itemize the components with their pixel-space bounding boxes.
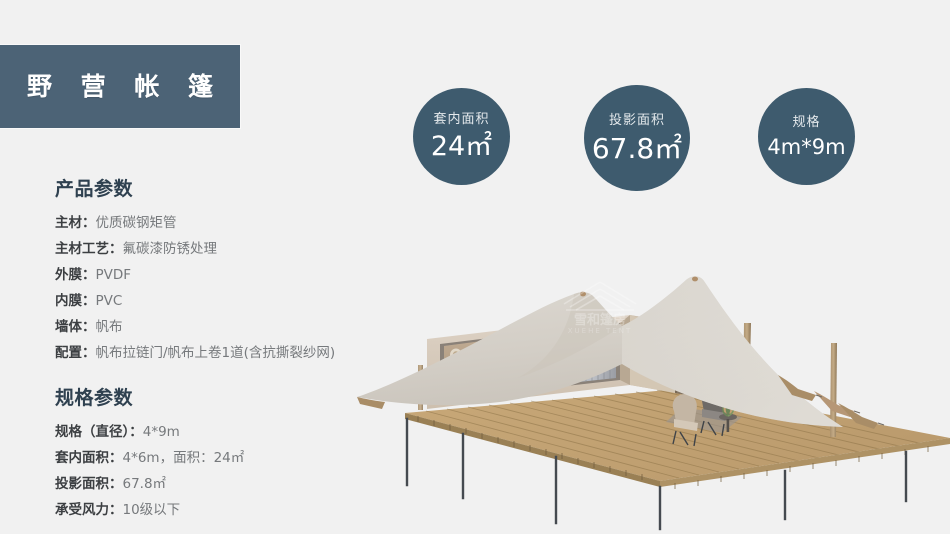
spec-value: 67.8㎡: [123, 476, 167, 492]
spec-label: 外膜：: [55, 267, 96, 283]
spec-value: 优质碳钢矩管: [96, 215, 177, 231]
product-parameters-heading: 产品参数: [55, 174, 335, 201]
spec-value: 帆布: [96, 319, 123, 335]
badge-inner-area: 套内面积 24㎡: [413, 88, 510, 185]
spec-value: 10级以下: [123, 502, 181, 518]
page-title-banner: 野 营 帐 篷: [0, 45, 240, 128]
spec-value: 氟碳漆防锈处理: [123, 241, 218, 257]
spec-row: 内膜：PVC: [55, 288, 335, 314]
badge-projected-area: 投影面积 67.8㎡: [584, 85, 690, 191]
badge-specification: 规格 4m*9m: [758, 88, 855, 185]
spec-row: 投影面积：67.8㎡: [55, 471, 244, 497]
spec-label: 主材工艺：: [55, 241, 123, 257]
badge-value: 4m*9m: [767, 137, 845, 158]
badge-caption: 投影面积: [609, 114, 665, 127]
spec-row: 主材工艺：氟碳漆防锈处理: [55, 236, 335, 262]
spec-label: 套内面积：: [55, 450, 123, 466]
spec-label: 主材：: [55, 215, 96, 231]
badge-caption: 套内面积: [433, 113, 489, 126]
spec-row: 规格（直径）：4*9m: [55, 419, 244, 445]
tent-product-image: [330, 195, 950, 534]
size-parameters-heading: 规格参数: [55, 383, 244, 410]
spec-label: 承受风力：: [55, 502, 123, 518]
spec-value: PVC: [96, 293, 123, 309]
page-title: 野 营 帐 篷: [17, 74, 223, 99]
badge-caption: 规格: [792, 116, 820, 129]
spec-value: PVDF: [96, 267, 132, 283]
spec-row: 外膜：PVDF: [55, 262, 335, 288]
size-parameters-block: 规格参数 规格（直径）：4*9m 套内面积：4*6m，面积：24㎡ 投影面积：6…: [55, 383, 244, 523]
spec-label: 投影面积：: [55, 476, 123, 492]
spec-row: 套内面积：4*6m，面积：24㎡: [55, 445, 244, 471]
spec-row: 主材：优质碳钢矩管: [55, 210, 335, 236]
spec-label: 内膜：: [55, 293, 96, 309]
spec-row: 墙体：帆布: [55, 314, 335, 340]
badge-value: 24㎡: [431, 133, 492, 160]
spec-row: 配置：帆布拉链门/帆布上卷1道(含抗撕裂纱网): [55, 340, 335, 366]
spec-label: 墙体：: [55, 319, 96, 335]
spec-row: 承受风力：10级以下: [55, 497, 244, 523]
page-canvas: 野 营 帐 篷 产品参数 主材：优质碳钢矩管 主材工艺：氟碳漆防锈处理 外膜：P…: [0, 0, 950, 534]
spec-value: 帆布拉链门/帆布上卷1道(含抗撕裂纱网): [96, 345, 336, 361]
spec-value: 4*9m: [143, 424, 180, 440]
spec-label: 配置：: [55, 345, 96, 361]
spec-value: 4*6m，面积：24㎡: [123, 450, 245, 466]
spec-label: 规格（直径）：: [55, 424, 143, 440]
badge-value: 67.8㎡: [592, 135, 682, 163]
product-parameters-block: 产品参数 主材：优质碳钢矩管 主材工艺：氟碳漆防锈处理 外膜：PVDF 内膜：P…: [55, 174, 335, 366]
